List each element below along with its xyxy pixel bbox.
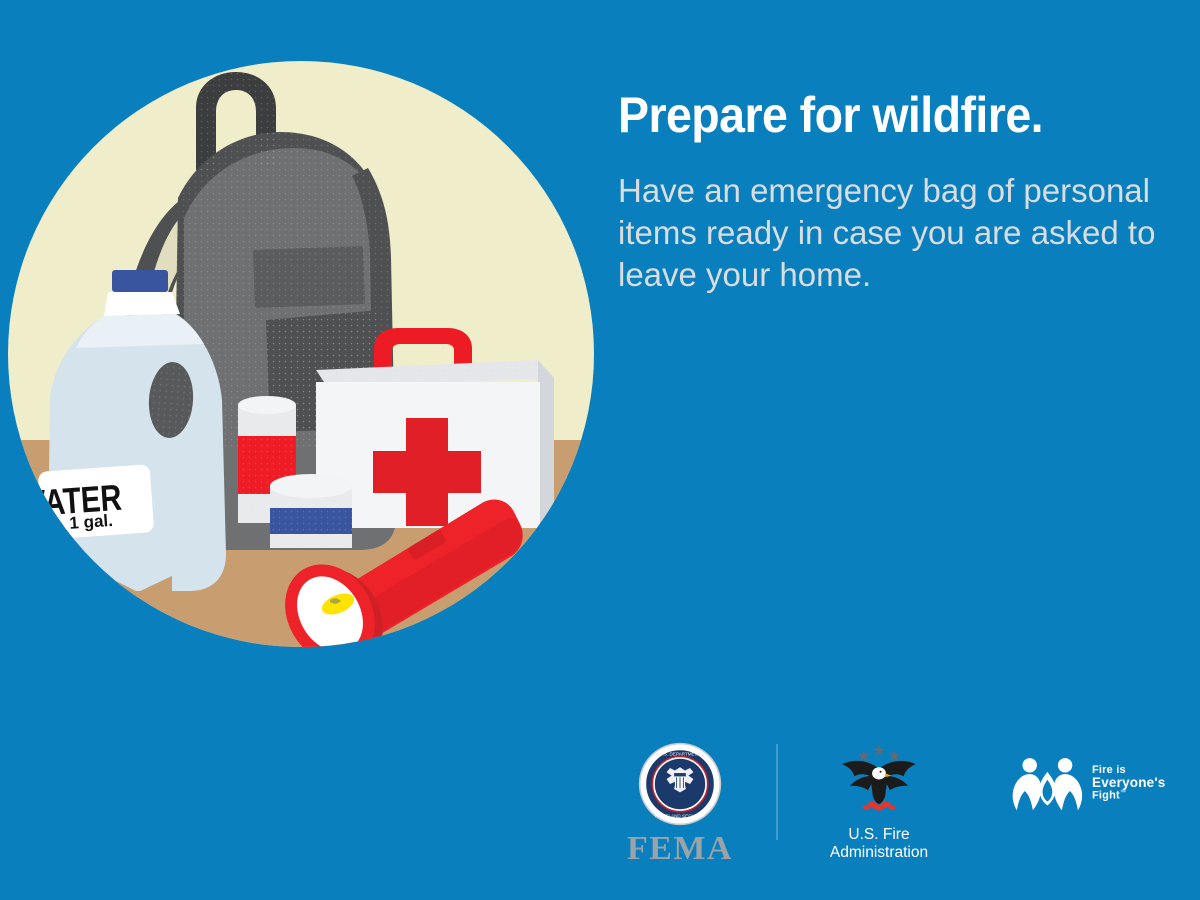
usfa-wordmark: U.S. Fire Administration: [830, 826, 928, 862]
poster-canvas: WATER 1 gal.: [0, 0, 1200, 900]
fief-line-3: Fight: [1092, 790, 1120, 802]
footer-logo-bar: U.S. DEPARTMENT HOMELAND SECURITY FEMA: [600, 742, 1180, 862]
water-label-size: 1 gal.: [69, 511, 114, 533]
usfa-logo: U.S. Fire Administration: [804, 742, 954, 862]
trademark-symbol: ™: [1120, 790, 1126, 796]
fema-logo: U.S. DEPARTMENT HOMELAND SECURITY FEMA: [610, 742, 750, 866]
canned-food-short: [270, 474, 352, 548]
svg-text:U.S. DEPARTMENT: U.S. DEPARTMENT: [659, 751, 701, 756]
two-figures-flame-icon: [1012, 754, 1086, 812]
emergency-kit-illustration: WATER 1 gal.: [8, 48, 598, 660]
usfa-eagle-icon: [833, 742, 925, 820]
svg-text:HOMELAND SECURITY: HOMELAND SECURITY: [655, 814, 706, 819]
jug-cap: [112, 270, 168, 292]
page-subtitle: Have an emergency bag of personal items …: [618, 170, 1158, 296]
fief-line-2: Everyone's: [1092, 777, 1166, 789]
fema-wordmark: FEMA: [627, 832, 733, 866]
logo-divider: [776, 744, 778, 840]
dhs-seal-icon: U.S. DEPARTMENT HOMELAND SECURITY: [638, 742, 722, 826]
message-block: Prepare for wildfire. Have an emergency …: [618, 86, 1163, 296]
jug-body: [48, 314, 226, 591]
page-title: Prepare for wildfire.: [618, 86, 1125, 144]
fire-is-everyones-fight-logo: Fire is Everyone's Fight™: [1012, 754, 1166, 812]
